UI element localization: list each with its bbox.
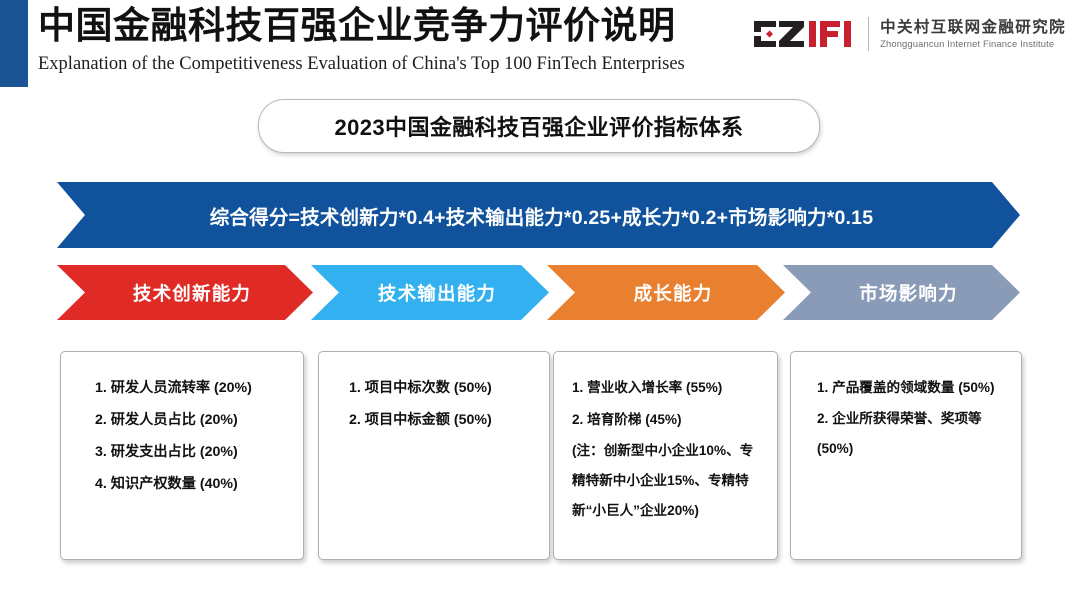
dimension-chevron-market-influence[interactable]: 市场影响力 — [783, 265, 1020, 320]
page-title-chinese: 中国金融科技百强企业竞争力评价说明 — [38, 4, 738, 50]
page-title: 中国金融科技百强企业竞争力评价说明 Explanation of the Com… — [38, 4, 738, 77]
index-system-title-box: 2023中国金融科技百强企业评价指标体系 — [258, 99, 820, 153]
indicator-item: 1. 项目中标次数 (50%) — [337, 372, 535, 404]
indicator-item: 2. 项目中标金额 (50%) — [337, 404, 535, 436]
dimension-label: 成长能力 — [620, 280, 713, 306]
score-formula-banner: 综合得分=技术创新力*0.4+技术输出能力*0.25+成长力*0.2+市场影响力… — [57, 182, 1020, 248]
indicator-item: 3. 研发支出占比 (20%) — [79, 436, 289, 468]
header-accent-bar — [0, 0, 28, 87]
index-system-title-text: 2023中国金融科技百强企业评价指标体系 — [335, 110, 744, 142]
logo-name-chinese: 中关村互联网金融研究院 — [880, 20, 1066, 36]
czifi-logomark-icon — [752, 19, 856, 49]
indicator-card-technology-innovation: 1. 研发人员流转率 (20%) 2. 研发人员占比 (20%) 3. 研发支出… — [60, 351, 304, 560]
score-formula-text: 综合得分=技术创新力*0.4+技术输出能力*0.25+成长力*0.2+市场影响力… — [204, 201, 874, 230]
dimension-label: 技术创新能力 — [119, 280, 251, 306]
indicator-item: 2. 培育阶梯 (45%) — [572, 404, 763, 436]
dimension-label: 市场影响力 — [845, 280, 958, 306]
indicator-item: 4. 知识产权数量 (40%) — [79, 468, 289, 500]
logo-divider — [868, 17, 869, 51]
logo-name-english: Zhongguancun Internet Finance Institute — [880, 39, 1066, 48]
indicator-item: 1. 产品覆盖的领域数量 (50%) — [809, 372, 1007, 404]
indicator-card-technology-output: 1. 项目中标次数 (50%) 2. 项目中标金额 (50%) — [318, 351, 550, 560]
indicator-note: (注：创新型中小企业10%、专精特新中小企业15%、专精特新“小巨人”企业20%… — [572, 436, 763, 526]
indicator-item: 1. 营业收入增长率 (55%) — [572, 372, 763, 404]
indicator-item: 2. 企业所获得荣誉、奖项等 (50%) — [809, 404, 1007, 464]
page-title-english: Explanation of the Competitiveness Evalu… — [38, 51, 738, 77]
dimension-label: 技术输出能力 — [364, 280, 496, 306]
page-header: 中国金融科技百强企业竞争力评价说明 Explanation of the Com… — [0, 0, 1080, 90]
logo-text: 中关村互联网金融研究院 Zhongguancun Internet Financ… — [880, 20, 1066, 49]
indicator-item: 2. 研发人员占比 (20%) — [79, 404, 289, 436]
dimension-chevron-technology-innovation[interactable]: 技术创新能力 — [57, 265, 313, 320]
dimension-chevron-technology-output[interactable]: 技术输出能力 — [311, 265, 549, 320]
institute-logo: 中关村互联网金融研究院 Zhongguancun Internet Financ… — [752, 12, 1066, 56]
indicator-card-growth: 1. 营业收入增长率 (55%) 2. 培育阶梯 (45%) (注：创新型中小企… — [553, 351, 778, 560]
indicator-item: 1. 研发人员流转率 (20%) — [79, 372, 289, 404]
indicator-card-market-influence: 1. 产品覆盖的领域数量 (50%) 2. 企业所获得荣誉、奖项等 (50%) — [790, 351, 1022, 560]
dimension-chevron-growth[interactable]: 成长能力 — [547, 265, 785, 320]
